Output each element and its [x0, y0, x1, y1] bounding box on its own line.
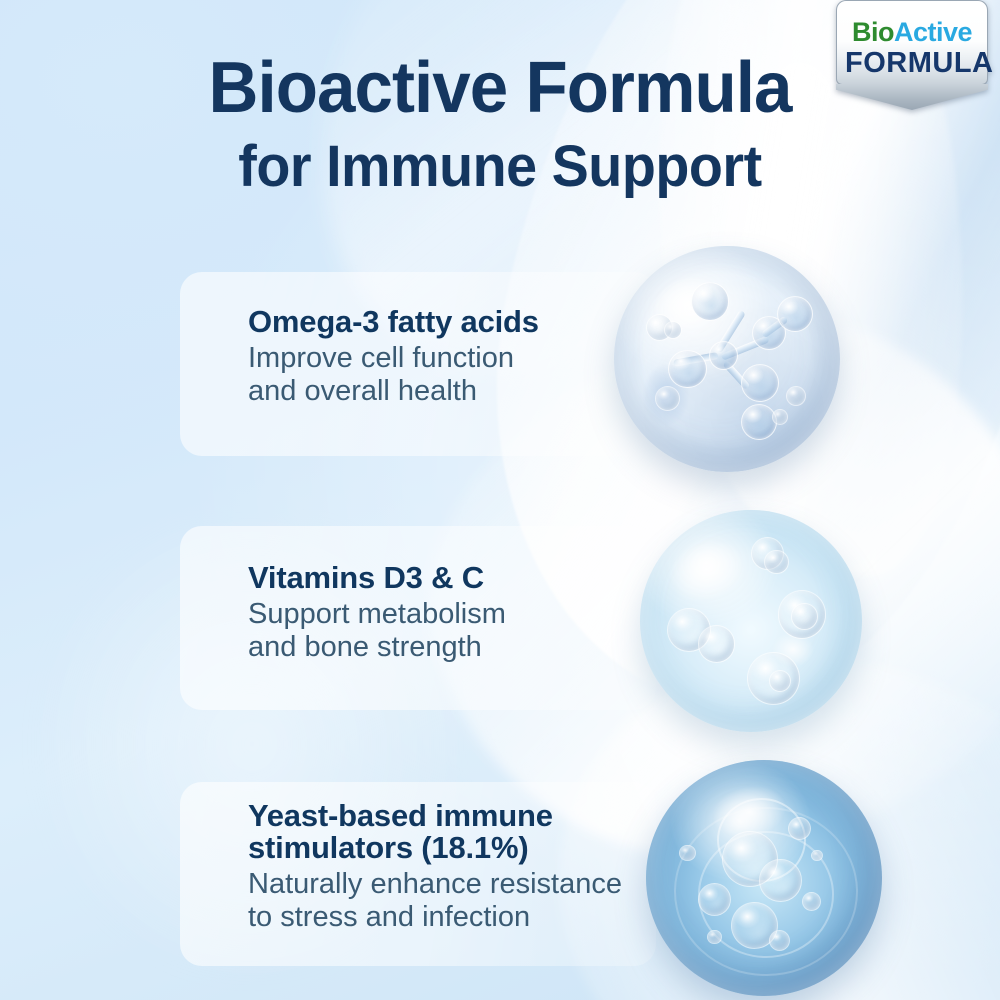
feature-description-line: to stress and infection [248, 901, 686, 933]
feature-description-line: and bone strength [248, 631, 686, 663]
feature-text-block: Omega-3 fatty acids Improve cell functio… [248, 306, 686, 407]
poster-heading-block: Bioactive Formula for Immune Support [0, 52, 1000, 196]
feature-text-block: Yeast-based immune stimulators (18.1%) N… [248, 800, 686, 933]
logo-text-bio: Bio [852, 17, 894, 47]
feature-description: Support metabolism and bone strength [248, 598, 686, 663]
feature-heading: Omega-3 fatty acids [248, 306, 686, 338]
feature-description-line: and overall health [248, 375, 686, 407]
feature-description-line: Support metabolism [248, 598, 686, 630]
logo-text-active: Active [894, 17, 972, 47]
feature-text-block: Vitamins D3 & C Support metabolism and b… [248, 562, 686, 663]
page-subtitle: for Immune Support [20, 138, 980, 196]
feature-description-line: Naturally enhance resistance [248, 868, 686, 900]
feature-heading: Vitamins D3 & C [248, 562, 686, 594]
feature-heading-line: stimulators (18.1%) [248, 832, 686, 864]
logo-line-bioactive: BioActive [845, 19, 979, 46]
feature-heading: Yeast-based immune stimulators (18.1%) [248, 800, 686, 864]
feature-description-line: Improve cell function [248, 342, 686, 374]
feature-heading-line: Yeast-based immune [248, 800, 686, 832]
page-title: Bioactive Formula [20, 52, 980, 124]
badge-top-edge [836, 0, 988, 10]
feature-description: Improve cell function and overall health [248, 342, 686, 407]
feature-description: Naturally enhance resistance to stress a… [248, 868, 686, 933]
product-infographic-poster: BioActive FORMULA Bioactive Formula for … [0, 0, 1000, 1000]
